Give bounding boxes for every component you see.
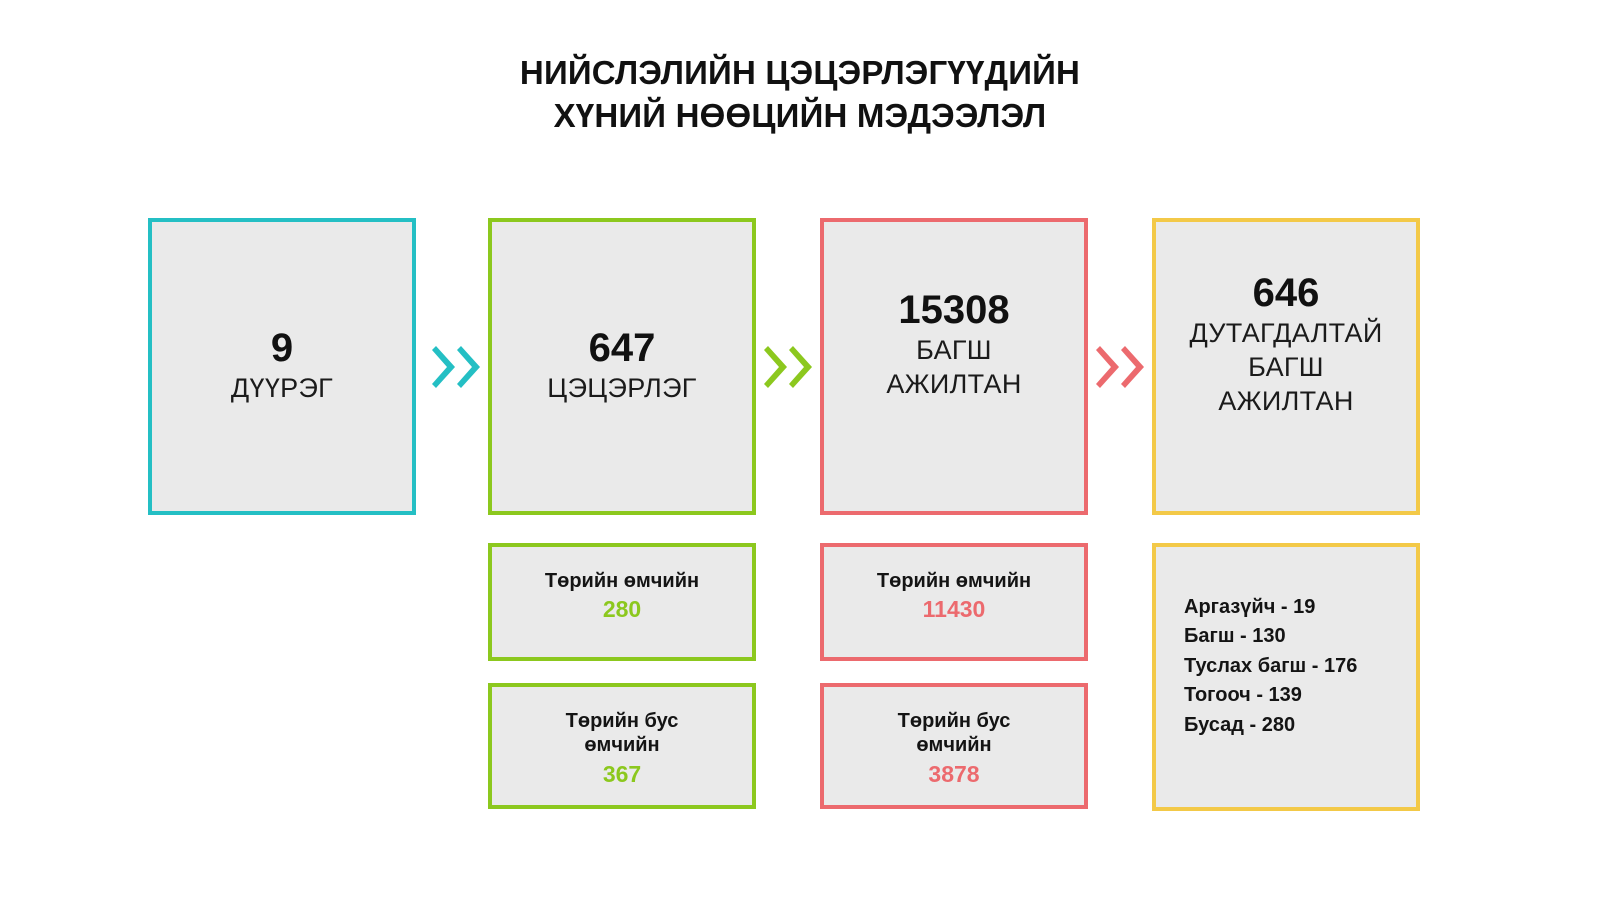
sub-card-staff-non-state-owned: Төрийн бус өмчийн 3878 bbox=[820, 683, 1088, 809]
stat-card-kindergartens: 647 ЦЭЦЭРЛЭГ bbox=[488, 218, 756, 515]
sub-card-kindergartens-state-owned: Төрийн өмчийн 280 bbox=[488, 543, 756, 661]
double-chevron-right-icon bbox=[762, 346, 816, 388]
stat-number-staff: 15308 bbox=[898, 289, 1009, 331]
page-title: НИЙСЛЭЛИЙН ЦЭЦЭРЛЭГҮҮДИЙН ХҮНИЙ НӨӨЦИЙН … bbox=[0, 52, 1600, 138]
flow-column-kindergartens: 647 ЦЭЦЭРЛЭГ Төрийн өмчийн 280 Төрийн бу… bbox=[488, 218, 756, 809]
double-chevron-right-icon bbox=[1094, 346, 1148, 388]
sub-value-staff-non-state-owned: 3878 bbox=[836, 760, 1072, 790]
stat-label-staff-line-2: АЖИЛТАН bbox=[886, 368, 1021, 402]
page-title-line-2: ХҮНИЙ НӨӨЦИЙН МЭДЭЭЛЭЛ bbox=[0, 95, 1600, 138]
kpi-flow: 9 ДҮҮРЭГ 647 ЦЭЦЭРЛЭГ Төрийн өмчийн 280 … bbox=[148, 218, 1420, 818]
sub-card-kindergartens-non-state-owned: Төрийн бус өмчийн 367 bbox=[488, 683, 756, 809]
stat-card-shortage: 646 ДУТАГДАЛТАЙ БАГШ АЖИЛТАН bbox=[1152, 218, 1420, 515]
sub-value-staff-state-owned: 11430 bbox=[836, 595, 1072, 625]
sub-label-kindergartens-non-state-owned-line-2: өмчийн bbox=[504, 733, 740, 757]
stat-label-shortage-line-3: АЖИЛТАН bbox=[1218, 385, 1353, 419]
list-item: Туслах багш - 176 bbox=[1184, 652, 1416, 681]
stat-number-districts: 9 bbox=[271, 327, 293, 369]
shortage-breakdown-list: Аргазүйч - 19 Багш - 130 Туслах багш - 1… bbox=[1152, 543, 1420, 811]
flow-column-staff: 15308 БАГШ АЖИЛТАН Төрийн өмчийн 11430 Т… bbox=[820, 218, 1088, 809]
sub-card-staff-state-owned: Төрийн өмчийн 11430 bbox=[820, 543, 1088, 661]
sub-label-kindergartens-state-owned: Төрийн өмчийн bbox=[504, 569, 740, 593]
sub-value-kindergartens-state-owned: 280 bbox=[504, 595, 740, 625]
double-chevron-right-icon bbox=[430, 346, 484, 388]
stat-card-districts: 9 ДҮҮРЭГ bbox=[148, 218, 416, 515]
list-item: Тогооч - 139 bbox=[1184, 681, 1416, 710]
sub-value-kindergartens-non-state-owned: 367 bbox=[504, 760, 740, 790]
stat-label-staff-line-1: БАГШ bbox=[916, 334, 992, 368]
flow-column-shortage: 646 ДУТАГДАЛТАЙ БАГШ АЖИЛТАН Аргазүйч - … bbox=[1152, 218, 1420, 811]
list-item: Багш - 130 bbox=[1184, 622, 1416, 651]
page-title-line-1: НИЙСЛЭЛИЙН ЦЭЦЭРЛЭГҮҮДИЙН bbox=[0, 52, 1600, 95]
stat-card-staff: 15308 БАГШ АЖИЛТАН bbox=[820, 218, 1088, 515]
sub-label-staff-non-state-owned-line-1: Төрийн бус bbox=[836, 709, 1072, 733]
flow-column-districts: 9 ДҮҮРЭГ bbox=[148, 218, 416, 515]
stat-label-shortage-line-1: ДУТАГДАЛТАЙ bbox=[1189, 317, 1382, 351]
stat-number-kindergartens: 647 bbox=[589, 327, 656, 369]
list-item: Бусад - 280 bbox=[1184, 711, 1416, 740]
stat-label-districts: ДҮҮРЭГ bbox=[231, 372, 333, 406]
stat-label-kindergartens: ЦЭЦЭРЛЭГ bbox=[547, 372, 696, 406]
sub-label-staff-state-owned: Төрийн өмчийн bbox=[836, 569, 1072, 593]
sub-label-staff-non-state-owned-line-2: өмчийн bbox=[836, 733, 1072, 757]
sub-label-kindergartens-non-state-owned-line-1: Төрийн бус bbox=[504, 709, 740, 733]
stat-label-shortage-line-2: БАГШ bbox=[1248, 351, 1324, 385]
stat-number-shortage: 646 bbox=[1253, 272, 1320, 314]
list-item: Аргазүйч - 19 bbox=[1184, 593, 1416, 622]
